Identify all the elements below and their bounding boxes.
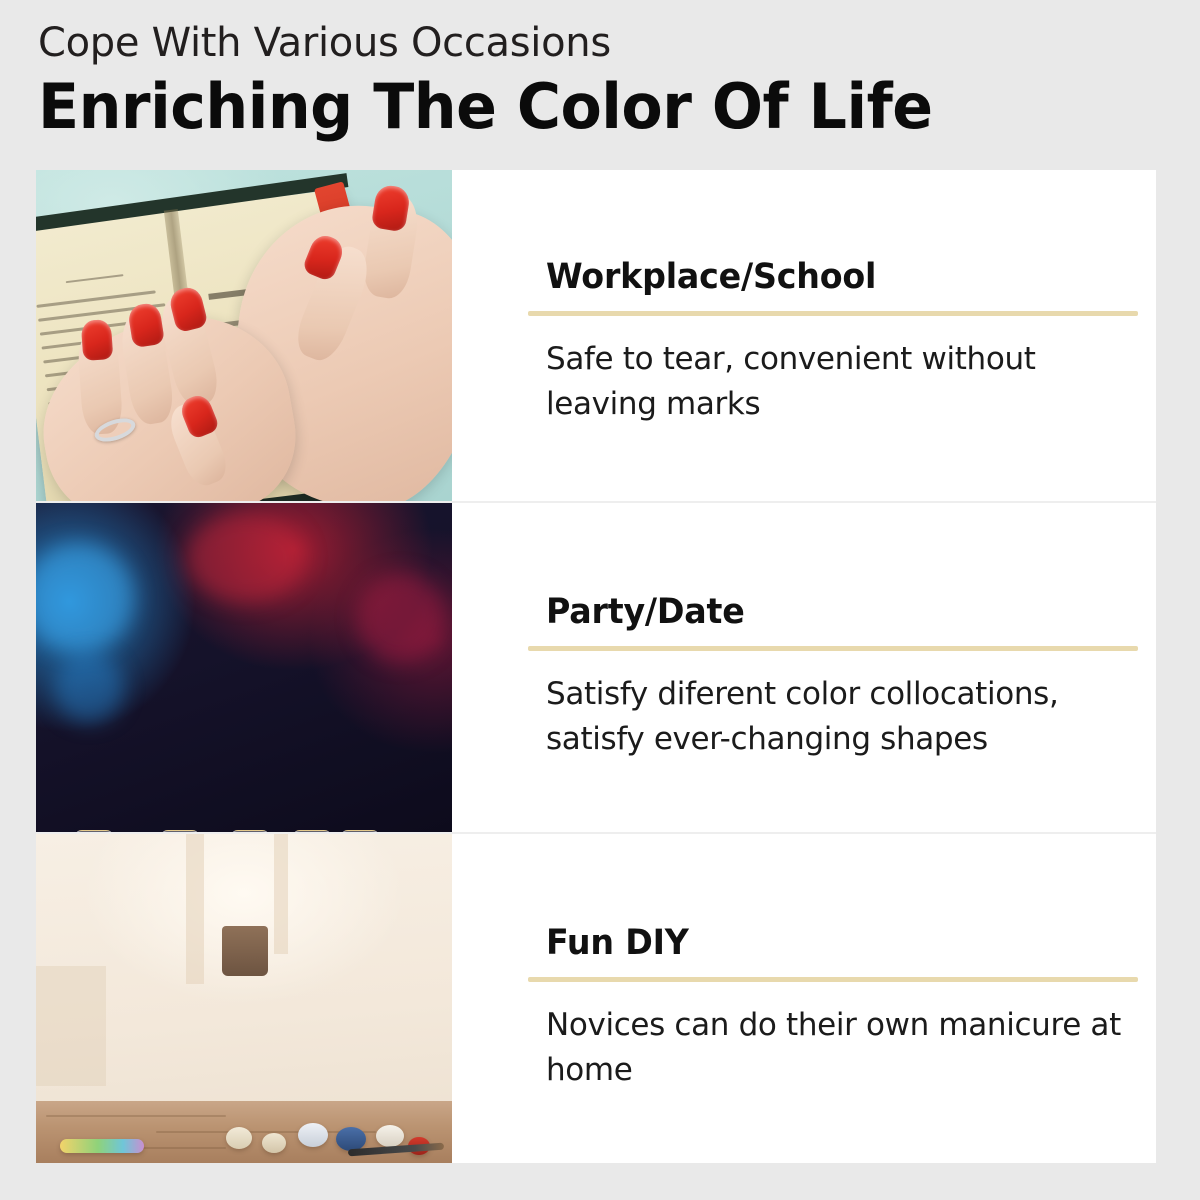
supply-pot (262, 1133, 286, 1153)
feature-card: Workplace/School Safe to tear, convenien… (36, 170, 1156, 1163)
page-title: Enriching The Color Of Life (38, 70, 1124, 144)
title-underline (528, 646, 1138, 651)
feature-description: Satisfy diferent color collocations, sat… (546, 672, 1138, 762)
photo-party-date (36, 503, 452, 832)
feature-title: Party/Date (546, 591, 1108, 633)
infographic-page: Cope With Various Occasions Enriching Th… (0, 0, 1200, 1200)
lamp (222, 926, 268, 976)
text-cell: Fun DIY Novices can do their own manicur… (492, 834, 1156, 1163)
feature-row: Workplace/School Safe to tear, convenien… (36, 170, 1156, 501)
text-cell: Workplace/School Safe to tear, convenien… (492, 170, 1156, 501)
photo-workplace-school (36, 170, 452, 501)
title-underline (528, 977, 1138, 982)
supply-pot (298, 1123, 328, 1147)
title-underline (528, 311, 1138, 316)
header: Cope With Various Occasions Enriching Th… (38, 18, 1158, 144)
supply-pot (226, 1127, 252, 1149)
text-cell: Party/Date Satisfy diferent color colloc… (492, 503, 1156, 832)
eyebrow-text: Cope With Various Occasions (38, 18, 1158, 68)
feature-description: Novices can do their own manicure at hom… (546, 1003, 1138, 1093)
photo-fun-diy (36, 834, 452, 1163)
feature-row: Fun DIY Novices can do their own manicur… (36, 832, 1156, 1163)
supply-pot (376, 1125, 404, 1147)
supply-strip (60, 1139, 144, 1153)
feature-row: Party/Date Satisfy diferent color colloc… (36, 501, 1156, 832)
feature-title: Fun DIY (546, 922, 1108, 964)
feature-description: Safe to tear, convenient without leaving… (546, 337, 1138, 427)
feature-title: Workplace/School (546, 256, 1108, 298)
